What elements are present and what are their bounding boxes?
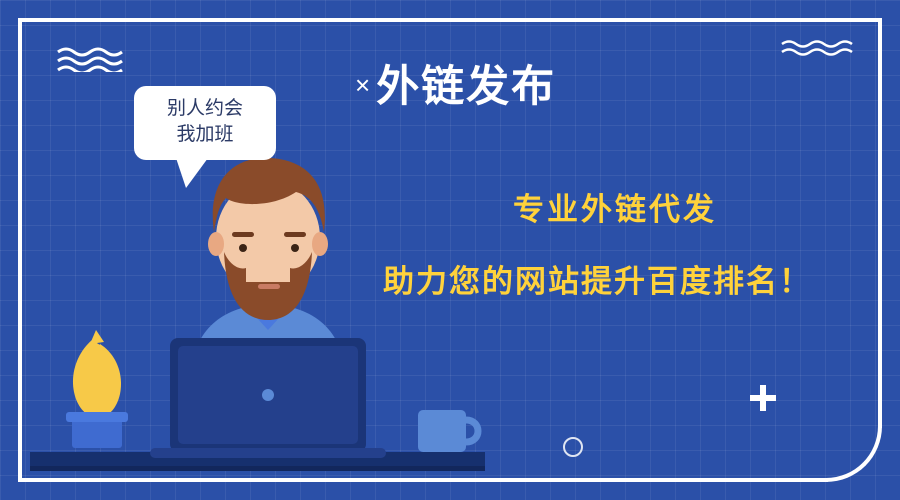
speech-bubble-line-2: 我加班 xyxy=(134,122,276,148)
headline-prefix-mark: × xyxy=(355,70,372,100)
subheadline-line-1: 专业外链代发 xyxy=(513,184,717,229)
wave-icon-left xyxy=(56,46,126,72)
coffee-mug-icon xyxy=(418,410,478,452)
frame-right xyxy=(878,18,882,428)
speech-bubble-tail xyxy=(176,158,208,188)
speech-bubble-line-1: 别人约会 xyxy=(134,96,276,122)
headline-text: 外链发布 xyxy=(376,63,556,111)
wave-icon-right xyxy=(780,38,860,56)
laptop-icon xyxy=(150,338,386,458)
plus-icon xyxy=(750,385,776,411)
frame-bottom xyxy=(18,478,828,482)
circle-outline-icon xyxy=(563,437,583,457)
frame-top xyxy=(18,18,882,22)
frame-left xyxy=(18,18,22,482)
headline: ×外链发布 xyxy=(355,52,556,114)
potted-plant-icon xyxy=(66,330,128,448)
subheadline-line-2: 助力您的网站提升百度排名！ xyxy=(383,256,812,301)
speech-bubble: 别人约会 我加班 xyxy=(134,86,276,160)
poster-canvas: 别人约会 我加班 ×外链发布 专业外链代发 助力您的网站提升百度排名！ xyxy=(0,0,900,500)
